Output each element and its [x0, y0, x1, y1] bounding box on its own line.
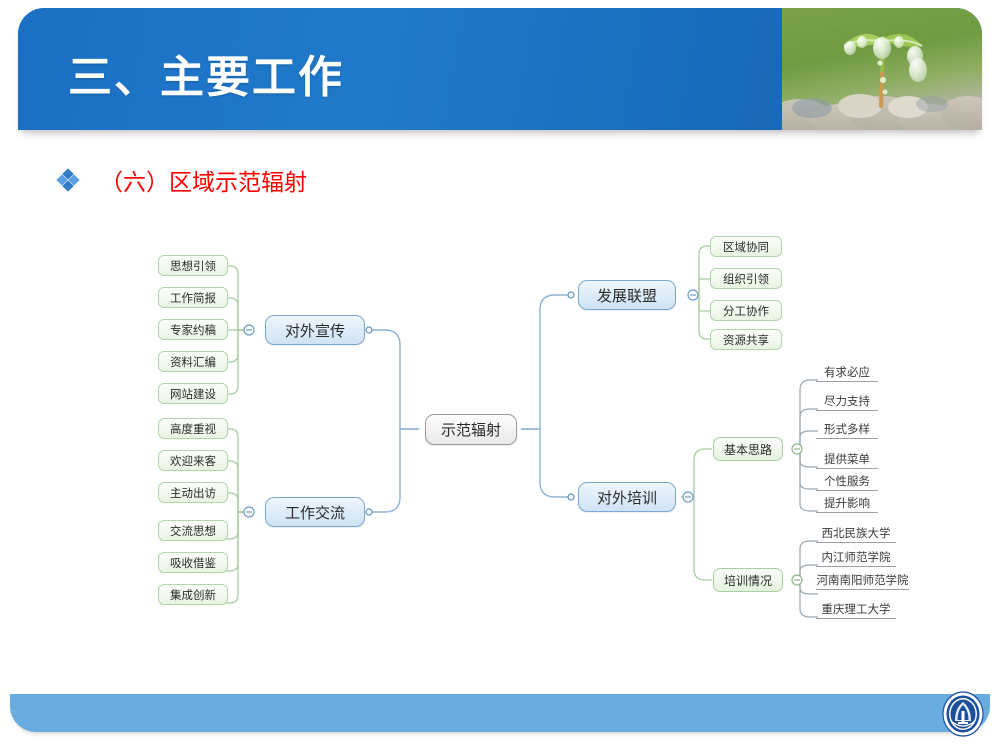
leaf-text[interactable]: 个性服务 [816, 475, 878, 491]
leaf-node[interactable]: 专家约稿 [158, 319, 228, 340]
collapse-toggle-group [244, 290, 802, 585]
leaf-text[interactable]: 有求必应 [816, 366, 878, 382]
leaf-text[interactable]: 重庆理工大学 [816, 603, 896, 619]
leaf-text[interactable]: 内江师范学院 [816, 551, 896, 567]
subbranch-node-jibensilu[interactable]: 基本思路 [713, 437, 783, 461]
subtitle-row: （六）区域示范辐射 [58, 163, 307, 197]
leaf-text[interactable]: 提供菜单 [816, 453, 878, 469]
leaf-node[interactable]: 网站建设 [158, 383, 228, 404]
leaf-node[interactable]: 组织引领 [710, 268, 782, 289]
seedling-photo [782, 8, 982, 130]
leaf-node[interactable]: 资源共享 [710, 329, 782, 350]
branch-node-duiwaipeixun[interactable]: 对外培训 [578, 482, 676, 512]
section-subtitle: （六）区域示范辐射 [100, 163, 307, 197]
leaf-node[interactable]: 交流思想 [158, 520, 228, 541]
page-title: 三、主要工作 [68, 41, 344, 105]
slide-header-banner: 三、主要工作 [18, 8, 982, 130]
leaf-text[interactable]: 尽力支持 [816, 395, 878, 411]
leaf-node[interactable]: 欢迎来客 [158, 450, 228, 471]
leaf-node[interactable]: 工作简报 [158, 287, 228, 308]
branch-node-fazhanlianmeng[interactable]: 发展联盟 [578, 280, 676, 310]
leaf-text[interactable]: 西北民族大学 [816, 527, 896, 543]
leaf-node[interactable]: 区域协同 [710, 236, 782, 257]
leaf-node[interactable]: 思想引领 [158, 255, 228, 276]
mindmap-root-node[interactable]: 示范辐射 [425, 414, 517, 445]
branch-node-gongzuojiaoliu[interactable]: 工作交流 [265, 497, 365, 527]
leaf-node[interactable]: 高度重视 [158, 418, 228, 439]
branch-node-duiwaixuanchuan[interactable]: 对外宣传 [265, 315, 365, 345]
subbranch-node-peixunqingkuang[interactable]: 培训情况 [713, 568, 783, 592]
leaf-text[interactable]: 提升影响 [816, 497, 878, 513]
university-seal-logo [940, 691, 986, 737]
leaf-node[interactable]: 集成创新 [158, 584, 228, 605]
leaf-node[interactable]: 分工协作 [710, 300, 782, 321]
slide-footer-bar [10, 694, 990, 732]
leaf-node[interactable]: 主动出访 [158, 482, 228, 503]
leaf-node[interactable]: 资料汇编 [158, 351, 228, 372]
diamond-bullet-icon [58, 170, 78, 190]
leaf-text[interactable]: 形式多样 [816, 423, 878, 439]
leaf-text[interactable]: 河南南阳师范学院 [816, 574, 909, 590]
leaf-node[interactable]: 吸收借鉴 [158, 552, 228, 573]
